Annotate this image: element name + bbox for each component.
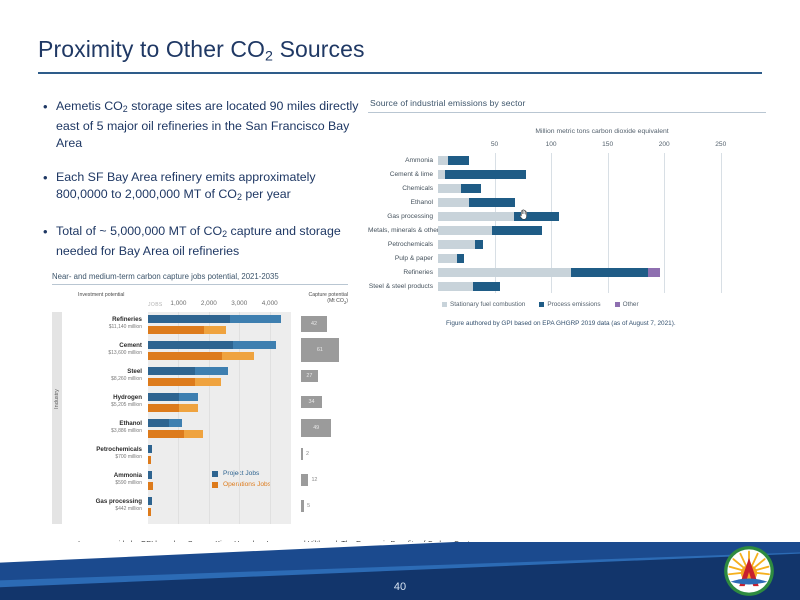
capture-potential-box: 12 (301, 474, 308, 486)
emissions-category-label: Cement & lime (368, 171, 438, 178)
operations-jobs-segment (148, 482, 153, 490)
bullet-text: Total of ~ 5,000,000 MT of CO2 capture a… (56, 223, 362, 260)
bullet-marker-icon: • (40, 98, 56, 152)
x-tick-label: 250 (715, 141, 726, 148)
footer-band: 40 (0, 542, 800, 600)
jobs-category-label: Petrochemicals (66, 446, 142, 453)
operations-jobs-segment (195, 378, 220, 386)
capture-potential-value: 2 (306, 451, 309, 457)
bar-segment (438, 268, 571, 277)
investment-value: $13,600 million (66, 350, 142, 356)
operations-jobs-segment (148, 352, 222, 360)
emissions-category-label: Metals, minerals & other (368, 227, 438, 234)
investment-value: $5,205 million (66, 402, 142, 408)
emissions-stacked-bar[interactable] (438, 170, 766, 179)
capture-potential-box: 61 (301, 338, 339, 361)
emissions-stacked-bar[interactable] (438, 212, 766, 221)
jobs-stacked-bars[interactable] (148, 419, 291, 440)
bar-segment (457, 254, 464, 263)
capture-potential-value: 12 (311, 477, 317, 483)
project-jobs-segment (179, 393, 198, 401)
project-jobs-segment (233, 341, 277, 349)
list-item: • Each SF Bay Area refinery emits approx… (40, 169, 362, 206)
bar-segment (475, 240, 483, 249)
jobs-axis-label: JOBS (148, 302, 163, 308)
jobs-stacked-bars[interactable] (148, 393, 291, 414)
capture-potential-box: 27 (301, 370, 318, 382)
emissions-category-label: Gas processing (368, 213, 438, 220)
bar-segment (438, 282, 473, 291)
emissions-chart-title: Source of industrial emissions by sector (368, 96, 766, 112)
investment-potential-header: Investment potential (78, 292, 124, 298)
emissions-bar-row[interactable]: Ethanol (368, 195, 766, 209)
bar-segment (438, 156, 448, 165)
emissions-x-ticks: 50100150200250 (438, 141, 766, 152)
jobs-stacked-bars[interactable] (148, 341, 291, 362)
operations-jobs-segment (148, 378, 195, 386)
aemetis-logo-icon (722, 544, 776, 598)
jobs-potential-figure: Near- and medium-term carbon capture job… (52, 272, 348, 530)
jobs-stacked-bars[interactable] (148, 315, 291, 336)
jobs-category-label: Steel (66, 368, 142, 375)
project-jobs-segment (148, 367, 195, 375)
emissions-title-divider (368, 112, 766, 113)
operations-jobs-segment (148, 508, 151, 516)
emissions-bar-row[interactable]: Metals, minerals & other (368, 223, 766, 237)
bullet-text: Aemetis CO2 storage sites are located 90… (56, 98, 362, 152)
page-title-subscript: 2 (265, 49, 273, 65)
legend-label: Other (623, 301, 639, 308)
emissions-axis-title: Million metric tons carbon dioxide equiv… (368, 128, 766, 135)
jobs-category-label: Gas processing (66, 498, 142, 505)
bar-segment (514, 212, 559, 221)
emissions-bar-row[interactable]: Steel & steel products (368, 279, 766, 293)
capture-potential-box: 2 (301, 448, 303, 460)
list-item: • Total of ~ 5,000,000 MT of CO2 capture… (40, 223, 362, 260)
page-number: 40 (0, 581, 800, 593)
bar-segment (648, 268, 659, 277)
project-jobs-segment (148, 341, 233, 349)
project-jobs-segment (230, 315, 281, 323)
page-title-main: Proximity to Other CO (38, 36, 265, 62)
jobs-x-tick-label: 4,000 (262, 300, 278, 307)
emissions-bar-row[interactable]: Petrochemicals (368, 237, 766, 251)
operations-jobs-segment (222, 352, 255, 360)
operations-jobs-segment (148, 430, 184, 438)
bar-segment (571, 268, 648, 277)
legend-swatch-icon (539, 302, 544, 307)
emissions-category-label: Pulp & paper (368, 255, 438, 262)
project-jobs-segment (169, 419, 182, 427)
bar-segment (438, 198, 469, 207)
bar-segment (438, 254, 457, 263)
jobs-category-label: Hydrogen (66, 394, 142, 401)
bullet-marker-icon: • (40, 223, 56, 260)
legend-swatch-icon (615, 302, 620, 307)
jobs-category-label: Ethanol (66, 420, 142, 427)
emissions-stacked-bar[interactable] (438, 226, 766, 235)
bar-segment (438, 184, 461, 193)
bar-segment (473, 282, 500, 291)
emissions-bar-row[interactable]: Gas processing (368, 209, 766, 223)
emissions-stacked-bar[interactable] (438, 184, 766, 193)
page-title: Proximity to Other CO2 Sources (38, 36, 365, 65)
emissions-bar-row[interactable]: Pulp & paper (368, 251, 766, 265)
bar-segment (438, 226, 492, 235)
legend-item[interactable]: Process emissions (539, 301, 600, 308)
bar-segment (438, 170, 445, 179)
capture-potential-value: 5 (307, 503, 310, 509)
legend-swatch-icon (442, 302, 447, 307)
emissions-stacked-bar[interactable] (438, 156, 766, 165)
investment-value: $700 million (66, 454, 142, 460)
emissions-category-label: Refineries (368, 269, 438, 276)
emissions-bar-row[interactable]: Ammonia (368, 153, 766, 167)
jobs-category-label: Ammonia (66, 472, 142, 479)
capture-potential-unit: (Mt CO (327, 298, 344, 304)
x-tick-label: 100 (546, 141, 557, 148)
emissions-stacked-bar[interactable] (438, 254, 766, 263)
capture-potential-box: 34 (301, 396, 322, 409)
operations-jobs-segment (179, 404, 197, 412)
bar-segment (438, 240, 475, 249)
project-jobs-segment (195, 367, 228, 375)
investment-value: $442 million (66, 506, 142, 512)
bar-segment (469, 198, 515, 207)
jobs-x-tick-label: 2,000 (201, 300, 217, 307)
emissions-category-label: Steel & steel products (368, 283, 438, 290)
legend-item[interactable]: Other (615, 301, 639, 308)
capture-potential-box: 5 (301, 500, 304, 512)
operations-jobs-segment (148, 326, 204, 334)
project-jobs-segment (148, 315, 230, 323)
project-jobs-segment (148, 471, 152, 479)
emissions-by-sector-figure: Source of industrial emissions by sector… (368, 96, 766, 364)
emissions-plot: 50100150200250 AmmoniaCement & limeChemi… (368, 141, 766, 293)
capture-potential-box: 49 (301, 419, 331, 438)
investment-value: $590 million (66, 480, 142, 486)
investment-value: $3,886 million (66, 428, 142, 434)
jobs-stacked-bars[interactable] (148, 471, 291, 492)
jobs-x-tick-label: 3,000 (231, 300, 247, 307)
legend-label: Stationary fuel combustion (450, 301, 525, 308)
capture-potential-unit-tail: ) (346, 298, 348, 304)
bullet-text-post: per year (242, 187, 291, 201)
operations-jobs-segment (184, 430, 203, 438)
investment-value: $8,260 million (66, 376, 142, 382)
investment-value: $11,140 million (66, 324, 142, 330)
x-tick-label: 200 (659, 141, 670, 148)
legend-label: Process emissions (547, 301, 600, 308)
bullet-text-pre: Total of ~ 5,000,000 MT of CO (56, 224, 222, 238)
x-tick-label: 150 (602, 141, 613, 148)
project-jobs-segment (148, 393, 179, 401)
legend-item[interactable]: Stationary fuel combustion (442, 301, 525, 308)
emissions-stacked-bar[interactable] (438, 198, 766, 207)
jobs-stacked-bars[interactable] (148, 367, 291, 388)
emissions-bar-row[interactable]: Refineries (368, 265, 766, 279)
project-jobs-segment (148, 497, 152, 505)
emissions-stacked-bar[interactable] (438, 268, 766, 277)
bullet-marker-icon: • (40, 169, 56, 206)
operations-jobs-segment (204, 326, 226, 334)
bar-segment (461, 184, 481, 193)
emissions-category-label: Ethanol (368, 199, 438, 206)
jobs-title-divider (52, 284, 348, 285)
capture-potential-header: Capture potential(Mt CO2) (290, 292, 348, 306)
industry-axis-label: Industry (54, 378, 60, 420)
x-tick-label: 50 (491, 141, 498, 148)
emissions-caption: Figure authored by GPI based on EPA GHGR… (446, 320, 766, 327)
bullet-text: Each SF Bay Area refinery emits approxim… (56, 169, 362, 206)
emissions-bar-row[interactable]: Chemicals (368, 181, 766, 195)
emissions-bar-rows: AmmoniaCement & limeChemicalsEthanolGas … (368, 153, 766, 293)
bar-segment (448, 156, 468, 165)
bullet-list: • Aemetis CO2 storage sites are located … (40, 98, 362, 277)
bar-segment (445, 170, 526, 179)
bar-segment (492, 226, 542, 235)
jobs-row[interactable]: Gas processing$442 million (66, 496, 348, 520)
emissions-category-label: Petrochemicals (368, 241, 438, 248)
emissions-stacked-bar[interactable] (438, 240, 766, 249)
page-title-tail: Sources (273, 36, 365, 62)
project-jobs-segment (148, 419, 169, 427)
operations-jobs-segment (148, 404, 179, 412)
emissions-category-label: Ammonia (368, 157, 438, 164)
project-jobs-segment (148, 445, 152, 453)
jobs-plot: Investment potential Capture potential(M… (52, 292, 348, 528)
emissions-category-label: Chemicals (368, 185, 438, 192)
operations-jobs-segment (148, 456, 151, 464)
jobs-x-tick-label: 1,000 (170, 300, 186, 307)
jobs-stacked-bars[interactable] (148, 445, 291, 466)
jobs-stacked-bars[interactable] (148, 497, 291, 518)
slide-canvas: Proximity to Other CO2 Sources • Aemetis… (0, 0, 800, 600)
emissions-stacked-bar[interactable] (438, 282, 766, 291)
title-divider (38, 72, 762, 74)
capture-potential-box: 42 (301, 316, 327, 332)
emissions-bar-row[interactable]: Cement & lime (368, 167, 766, 181)
emissions-legend: Stationary fuel combustionProcess emissi… (442, 301, 766, 308)
jobs-category-label: Cement (66, 342, 142, 349)
list-item: • Aemetis CO2 storage sites are located … (40, 98, 362, 152)
bar-segment (438, 212, 514, 221)
jobs-chart-title: Near- and medium-term carbon capture job… (52, 272, 348, 284)
bullet-text-pre: Aemetis CO (56, 99, 123, 113)
jobs-category-label: Refineries (66, 316, 142, 323)
